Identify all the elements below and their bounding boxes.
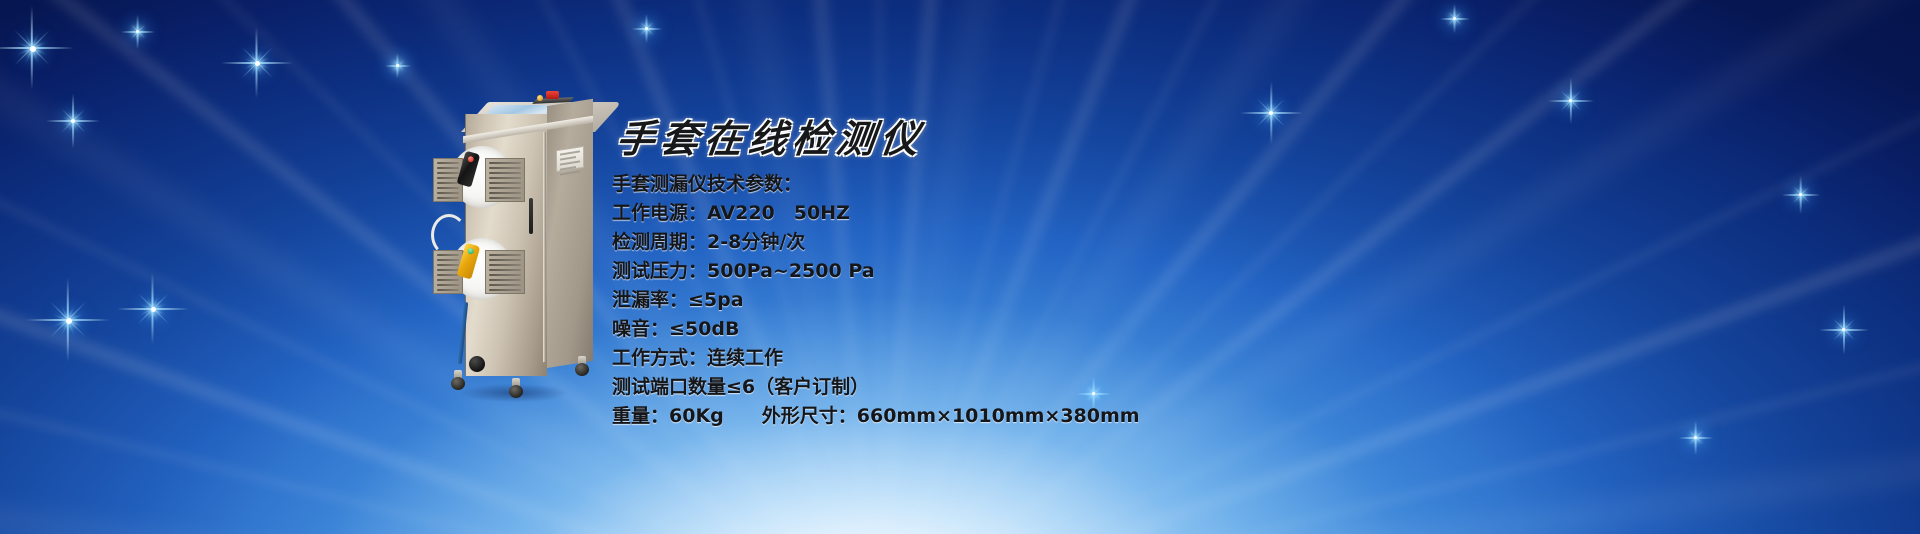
port-2-grill-right — [485, 250, 525, 294]
cabinet-door-seam — [543, 132, 546, 362]
spec-item: 测试压力：500Pa~2500 Pa — [612, 257, 1432, 286]
port-1-grill-right — [485, 158, 525, 202]
emergency-stop-button[interactable] — [546, 91, 559, 99]
test-port-2[interactable]: 2 — [433, 236, 521, 308]
spec-item: 泄漏率：≤5pa — [612, 286, 1432, 315]
product-image: 1 2 — [425, 88, 605, 398]
spec-item: 噪音：≤50dB — [612, 315, 1432, 344]
spec-item: 重量：60Kg 外形尺寸：660mm×1010mm×380mm — [612, 402, 1432, 431]
spec-item: 检测周期：2-8分钟/次 — [612, 228, 1432, 257]
spec-heading: 手套测漏仪技术参数： — [612, 170, 1432, 199]
port-2-led-icon — [467, 248, 474, 255]
caster-front-left — [451, 370, 465, 390]
spec-item: 工作方式：连续工作 — [612, 344, 1432, 373]
nameplate-label — [556, 146, 584, 172]
copy-block: 手套在线检测仪 手套测漏仪技术参数： 工作电源：AV220 50HZ检测周期：2… — [612, 118, 1432, 431]
spec-item: 工作电源：AV220 50HZ — [612, 199, 1432, 228]
page-title: 手套在线检测仪 — [614, 118, 927, 160]
spec-list: 手套测漏仪技术参数： 工作电源：AV220 50HZ检测周期：2-8分钟/次测试… — [612, 170, 1432, 431]
port-1-led-icon — [467, 156, 474, 163]
spec-item: 测试端口数量≤6（客户订制） — [612, 373, 1432, 402]
test-port-1[interactable]: 1 — [433, 144, 521, 216]
promo-banner: 1 2 — [0, 0, 1920, 534]
cabinet-side-panel — [547, 99, 593, 368]
base-knob[interactable] — [469, 356, 485, 372]
indicator-lamp-icon — [537, 95, 543, 101]
caster-front-right — [509, 378, 523, 398]
cabinet-door-handle[interactable] — [529, 198, 533, 234]
caster-rear-right — [575, 356, 589, 376]
